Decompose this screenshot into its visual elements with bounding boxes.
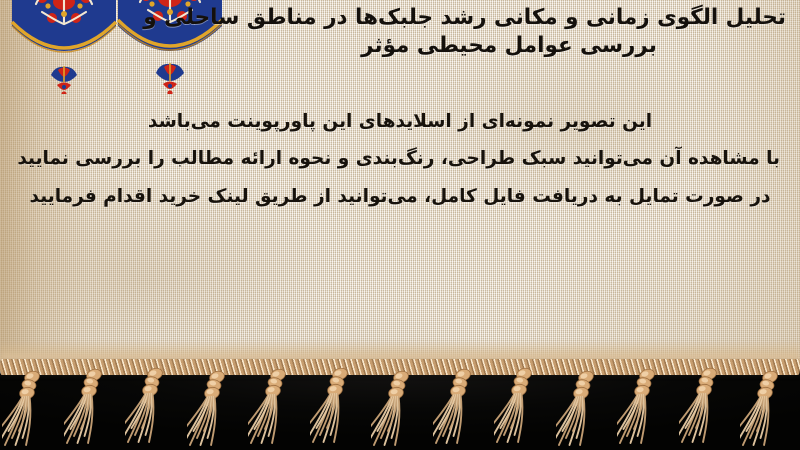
presentation-slide: تحلیل الگوی زمانی و مکانی رشد جلبک‌ها در… [0,0,800,450]
tassel-icon [2,368,60,450]
tassel-icon [679,365,737,449]
tassel-icon [617,366,675,450]
tassel-icon [64,366,122,450]
slide-title-line-2: بررسی عوامل محیطی مؤثر [232,32,786,61]
tassel-icon [740,368,798,450]
tazhib-medallion-icon [8,0,120,94]
tassel-icon [556,368,614,450]
tassel-icon [248,366,306,450]
tassel-icon [433,366,491,450]
body-line-1: این تصویر نمونه‌ای از اسلایدهای این پاور… [20,110,780,134]
tassel-icon [494,365,552,449]
tassel-icon [125,365,183,449]
tassel-icon [310,365,368,449]
tassel-fringe-group [0,364,800,450]
tassel-icon [187,368,245,450]
slide-title: تحلیل الگوی زمانی و مکانی رشد جلبک‌ها در… [232,4,786,61]
body-line-3: در صورت تمایل به دریافت فایل کامل، می‌تو… [20,185,780,209]
slide-title-line-1: تحلیل الگوی زمانی و مکانی رشد جلبک‌ها در… [232,4,786,33]
body-line-2: با مشاهده آن می‌توانید سبک طراحی، رنگ‌بن… [20,147,780,171]
tassel-icon [371,368,429,450]
slide-body-text: این تصویر نمونه‌ای از اسلایدهای این پاور… [20,110,780,222]
